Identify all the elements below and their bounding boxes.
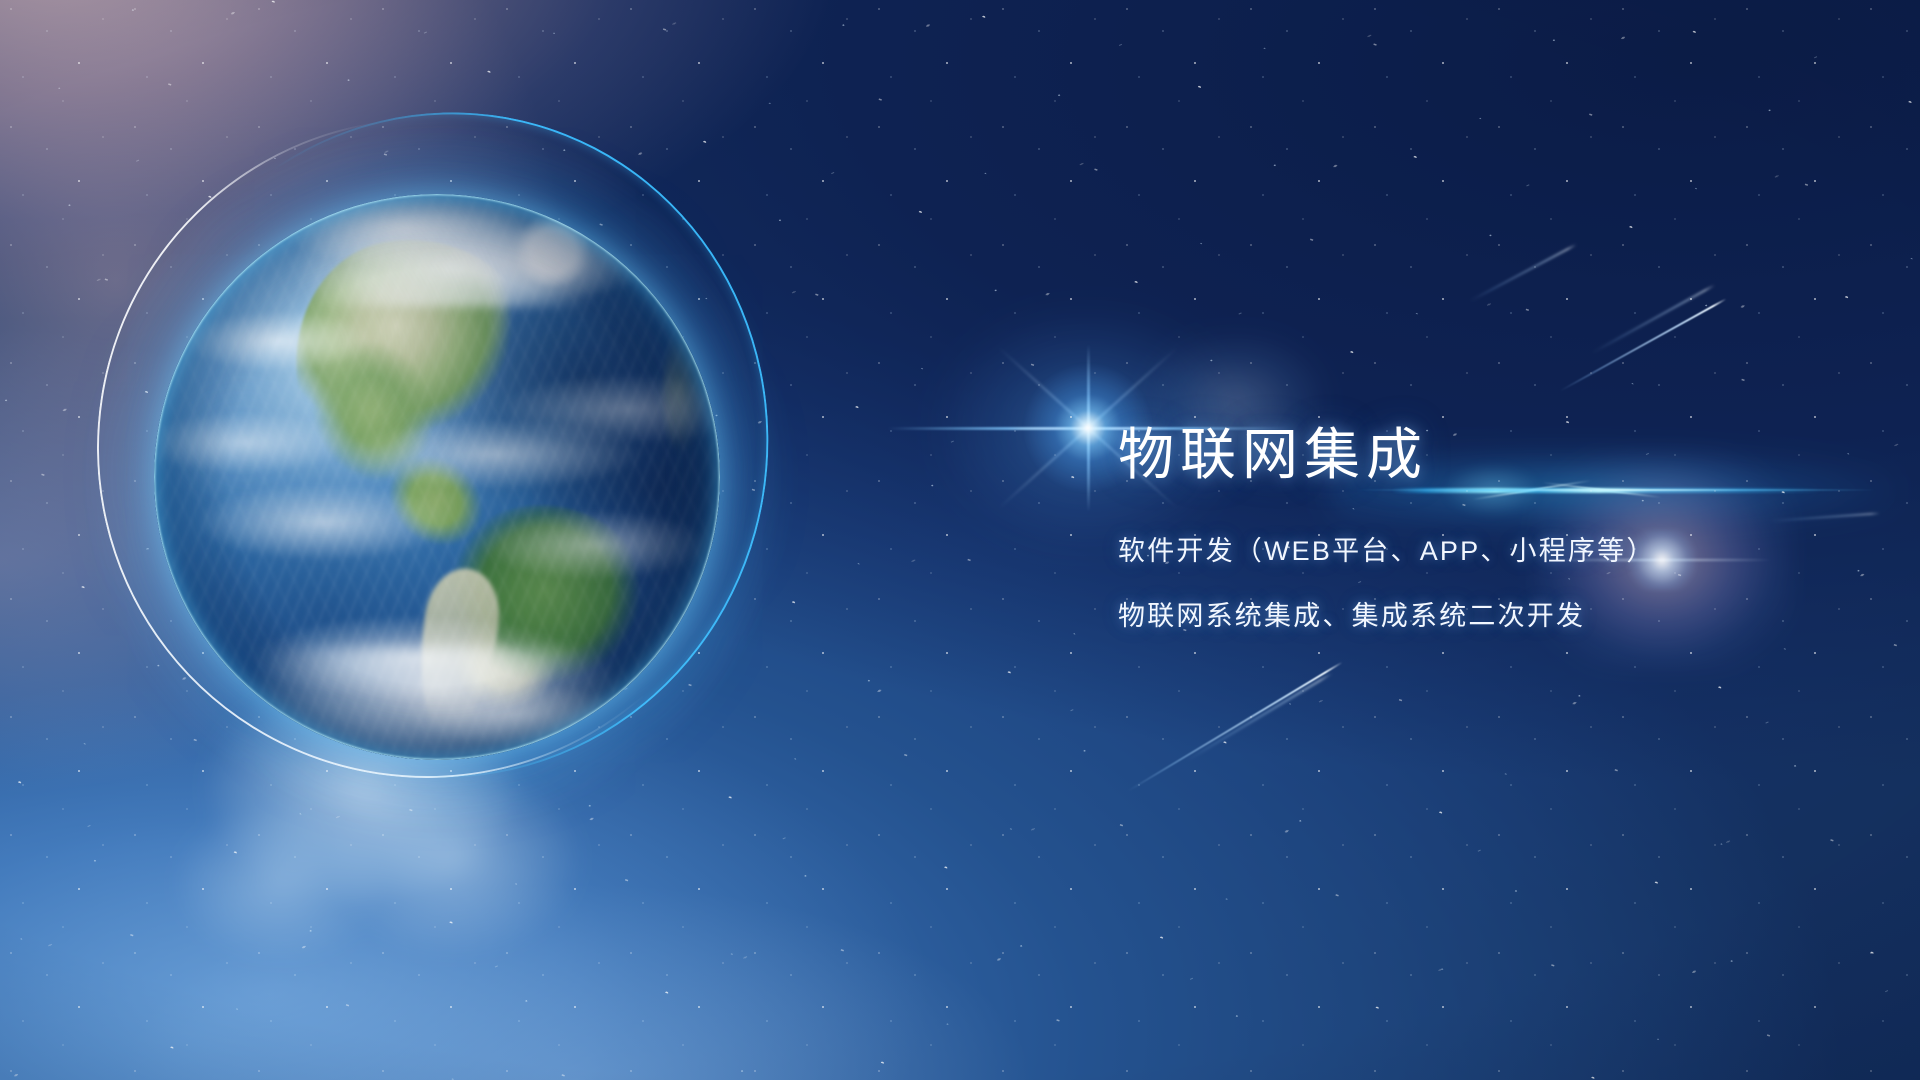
globe-sphere: [154, 194, 720, 760]
comet-streak: [1592, 284, 1715, 353]
banner-headline: 物联网集成: [1118, 424, 1838, 487]
comet-streak: [1560, 298, 1727, 392]
atmosphere-rim: [154, 194, 720, 760]
banner-subtitle-line-2: 物联网系统集成、集成系统二次开发: [1118, 603, 1838, 630]
comet-streak: [1186, 673, 1332, 762]
banner-subtitle-line-1: 软件开发（WEB平台、APP、小程序等）: [1118, 538, 1838, 565]
banner-text-block: 物联网集成 软件开发（WEB平台、APP、小程序等） 物联网系统集成、集成系统二…: [1118, 424, 1838, 630]
comet-streak: [1470, 244, 1577, 302]
iot-integration-banner: 物联网集成 软件开发（WEB平台、APP、小程序等） 物联网系统集成、集成系统二…: [0, 0, 1920, 1080]
comet-streak: [1127, 661, 1342, 791]
earth-globe: [154, 194, 720, 760]
